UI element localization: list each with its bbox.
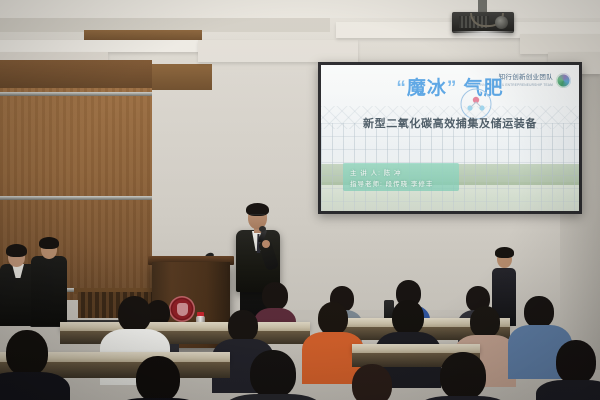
projection-screen-frame: 知行创新创业团队 ZHIXING INNOVATION & ENTREPRENE… [318, 62, 582, 214]
ceiling-beam [198, 40, 358, 62]
projector-lens [495, 16, 508, 29]
person-hair [39, 237, 59, 249]
quote-close: ” [447, 78, 458, 99]
slide-title: “魔冰” 气肥 [321, 79, 579, 98]
person-head [352, 364, 392, 400]
wall-trim-strip [0, 92, 152, 96]
presenter-hand [262, 240, 270, 248]
projection-screen[interactable]: 知行创新创业团队 ZHIXING INNOVATION & ENTREPRENE… [321, 65, 579, 211]
ceiling-wood-inset [84, 30, 202, 40]
desk-row [60, 322, 310, 331]
lecture-hall-photo: 知行创新创业团队 ZHIXING INNOVATION & ENTREPRENE… [0, 0, 600, 400]
slide-title-main: 魔冰 [407, 78, 447, 99]
person-head [440, 352, 486, 400]
person-head [136, 356, 180, 400]
person-head [556, 340, 596, 384]
person-torso [536, 380, 600, 400]
person-head [6, 330, 48, 376]
projector-light-glow [448, 31, 520, 41]
person-hair [495, 247, 514, 258]
person-head [392, 300, 424, 335]
person-head [118, 296, 151, 332]
desk-front-panel [60, 331, 310, 344]
glasses-icon [250, 214, 265, 219]
person-head [470, 306, 500, 338]
quote-open: “ [396, 78, 407, 99]
university-seal-emblem [169, 296, 195, 322]
slide-subtitle: 新型二氧化碳高效捕集及储运装备 [321, 115, 579, 131]
standing-person [31, 256, 67, 326]
wall-trim-strip [0, 196, 152, 200]
presenter-info-box: 主 讲 人: 陈 冲 指导老师: 段传晓 李修丰 [343, 163, 459, 191]
presenter-name-line: 主 讲 人: 陈 冲 [350, 167, 459, 177]
person-torso [0, 372, 70, 400]
person-hair [6, 244, 27, 257]
advisor-name-line: 指导老师: 段传晓 李修丰 [350, 178, 459, 188]
person-head [250, 350, 296, 398]
person-head [228, 310, 258, 342]
person-head [262, 282, 288, 310]
seal-inner-glyph [177, 303, 188, 316]
microphone-head [259, 226, 266, 232]
person-head [524, 296, 554, 328]
ceiling-beam [520, 34, 600, 54]
person-head [318, 302, 348, 335]
